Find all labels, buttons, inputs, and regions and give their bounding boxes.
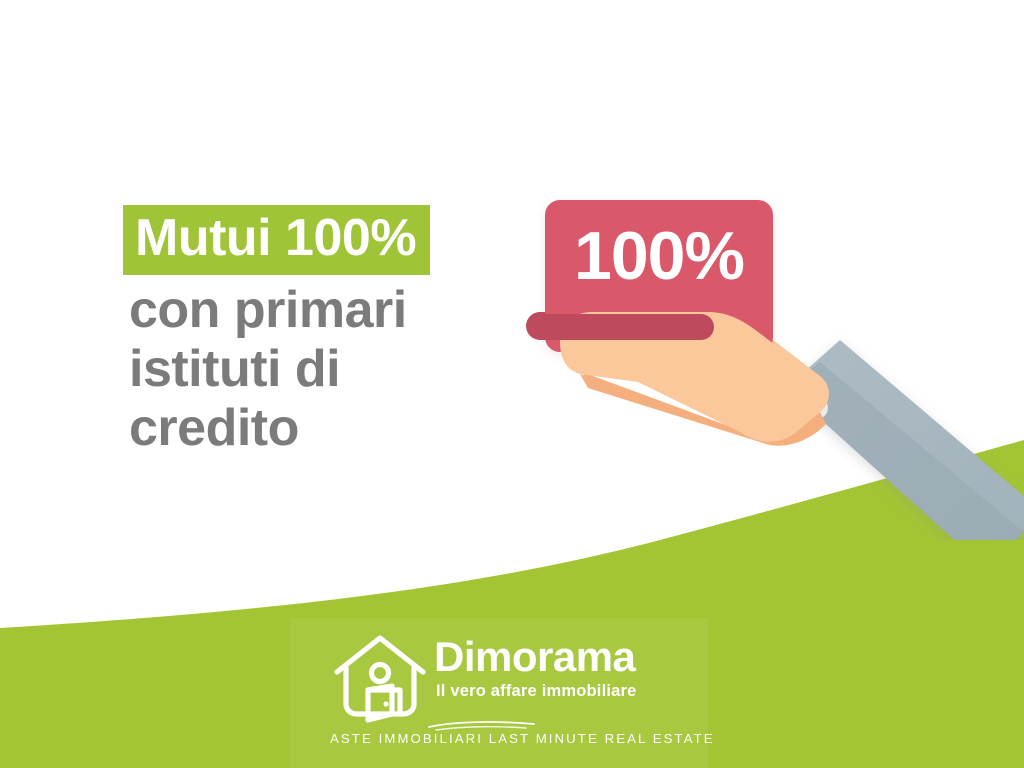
hand-drawn-underline-icon: [426, 718, 538, 732]
promotional-banner: Mutui 100% con primari istituti di credi…: [0, 0, 1024, 768]
house-with-open-door-icon: [330, 628, 430, 728]
headline-subtext: con primari istituti di credito: [123, 281, 553, 457]
logo-text-block: Dimorama Il vero affare immobiliare: [434, 636, 690, 700]
logo-wordmark: Dimorama: [434, 636, 690, 678]
headline-block: Mutui 100% con primari istituti di credi…: [123, 205, 553, 457]
logo-tagline: ASTE IMMOBILIARI LAST MINUTE REAL ESTATE: [330, 732, 690, 745]
headline-line-1: con primari: [129, 281, 553, 340]
headline-line-2: istituti di: [129, 340, 553, 399]
headline-highlight: Mutui 100%: [123, 205, 430, 275]
logo-slogan: Il vero affare immobiliare: [436, 683, 690, 700]
headline-line-3: credito: [129, 399, 553, 458]
logo-lockup: Dimorama Il vero affare immobiliare ASTE…: [330, 622, 690, 754]
percent-card: 100%: [545, 200, 773, 352]
shirt-sleeve: [786, 340, 1024, 540]
hand-holding-card-illustration: 100%: [520, 180, 1024, 540]
headline-highlight-wrap: Mutui 100%: [123, 205, 553, 275]
card-percent-value: 100%: [545, 200, 773, 290]
